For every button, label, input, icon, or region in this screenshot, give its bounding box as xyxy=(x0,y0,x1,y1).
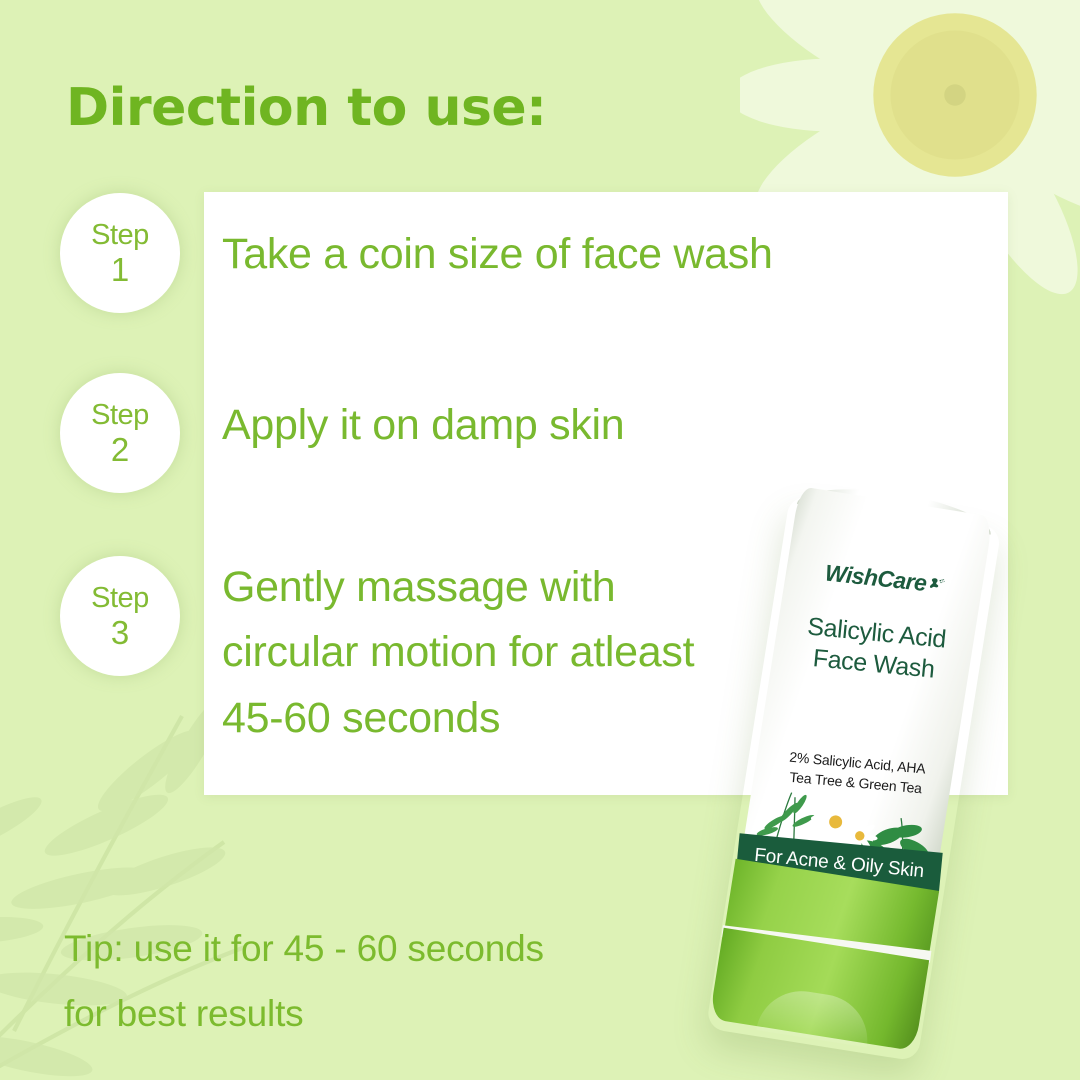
page-title: Direction to use: xyxy=(66,78,546,138)
step-text-1: Take a coin size of face wash xyxy=(222,222,773,287)
step-badge-word: Step xyxy=(91,401,149,430)
step-badge-word: Step xyxy=(91,221,149,250)
step-badge-number: 2 xyxy=(111,433,129,466)
step-text-3: Gently massage with circular motion for … xyxy=(222,555,694,751)
step-badge-number: 1 xyxy=(111,253,129,286)
tip-text: Tip: use it for 45 - 60 seconds for best… xyxy=(64,917,544,1047)
step-badge-2: Step 2 xyxy=(60,373,180,493)
poster-canvas: Direction to use: Step 1 Take a coin siz… xyxy=(0,0,1080,1080)
step-badge-1: Step 1 xyxy=(60,193,180,313)
step-badge-word: Step xyxy=(91,584,149,613)
step-text-2: Apply it on damp skin xyxy=(222,393,624,458)
step-badge-number: 3 xyxy=(111,616,129,649)
step-badge-3: Step 3 xyxy=(60,556,180,676)
wishcare-logo-icon xyxy=(926,573,948,595)
